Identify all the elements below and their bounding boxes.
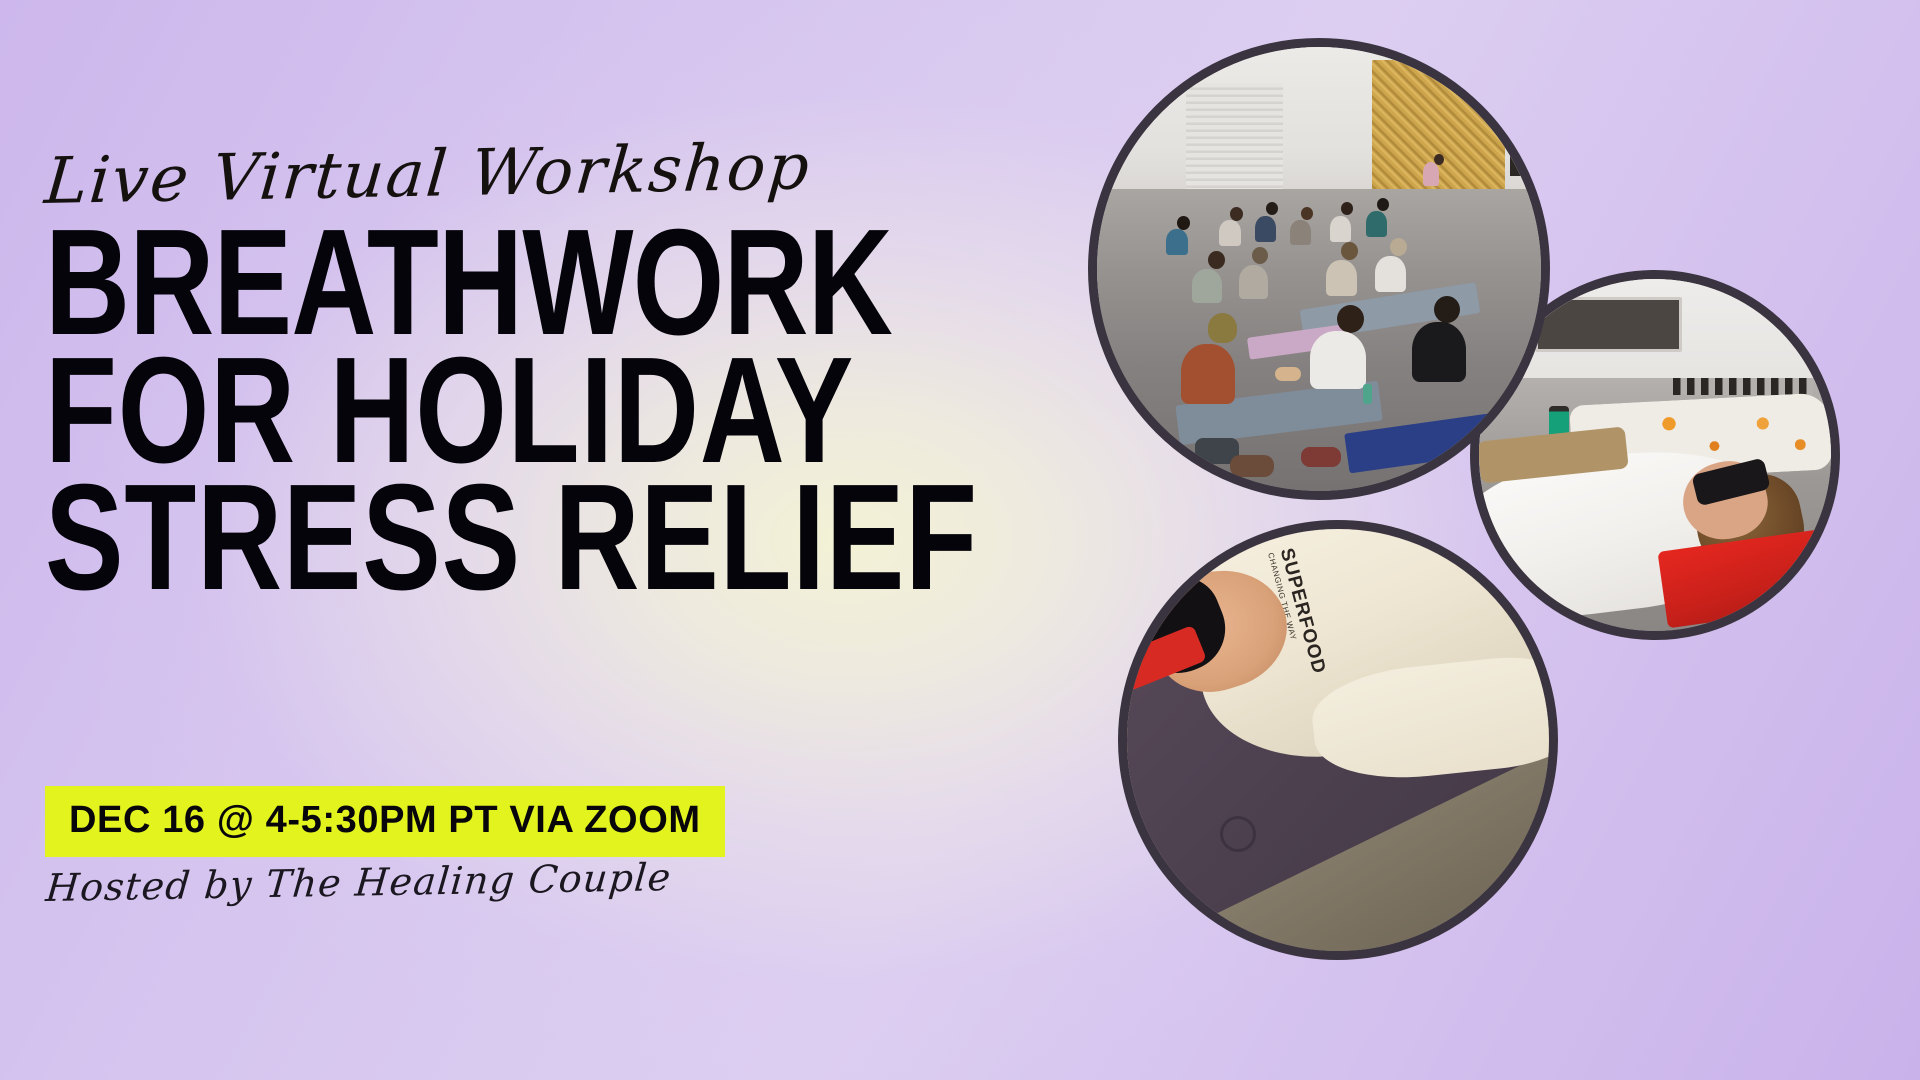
photo-circle-superfood-hoodie-participant: SUPERFOOD CHANGING THE WAY SIGHTGLOW [1118,520,1558,960]
photo-group-breathwork-class [1097,47,1541,491]
poster-text-block: Live Virtual Workshop BREATHWORK FOR HOL… [45,150,1055,601]
promotional-poster: Live Virtual Workshop BREATHWORK FOR HOL… [0,0,1920,1080]
hosted-by-text: Hosted by The Healing Couple [44,855,673,910]
page-title: BREATHWORK FOR HOLIDAY STRESS RELIEF [45,218,833,601]
photo-circle-group-breathwork-class [1088,38,1550,500]
date-time-badge: DEC 16 @ 4-5:30PM PT VIA ZOOM [45,786,725,857]
photo-superfood-hoodie-participant: SUPERFOOD CHANGING THE WAY SIGHTGLOW [1127,529,1549,951]
date-badge-wrap: DEC 16 @ 4-5:30PM PT VIA ZOOM [45,786,725,857]
headline-line-3: STRESS RELIEF [45,473,833,601]
